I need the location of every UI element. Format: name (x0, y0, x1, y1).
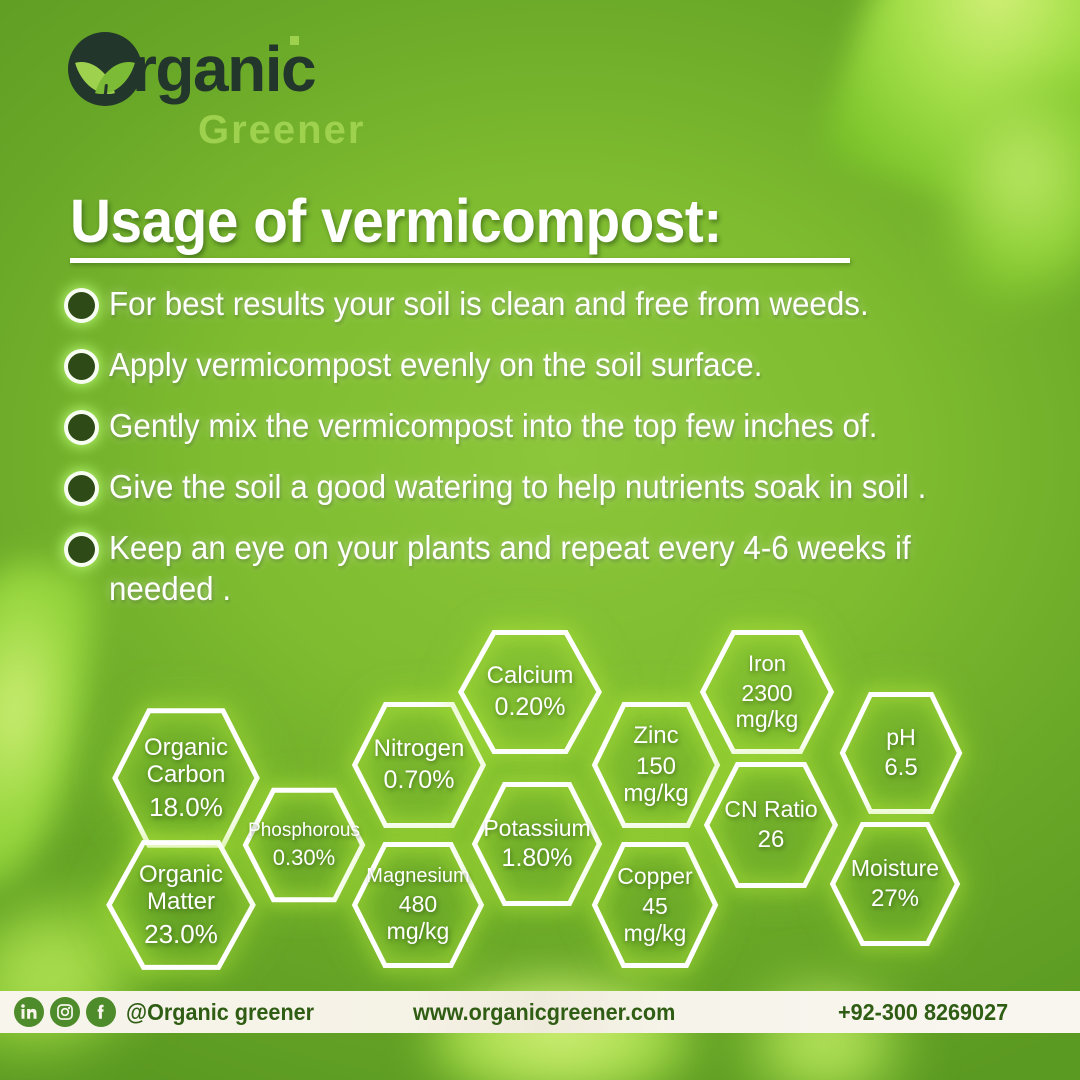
nutrient-hexagon[interactable]: Phosphorous0.30% (243, 788, 365, 902)
nutrient-hexagon[interactable]: Potassium1.80% (472, 782, 602, 906)
hexagon-label: Moisture27% (851, 855, 939, 913)
hexagon-label: CN Ratio26 (724, 796, 817, 854)
list-item-label: For best results your soil is clean and … (109, 284, 869, 325)
list-item-label: Keep an eye on your plants and repeat ev… (109, 528, 954, 610)
nutrient-value: 0.20% (487, 693, 574, 722)
hexagon-label: Potassium1.80% (483, 815, 590, 874)
nutrient-name: Iron (736, 651, 799, 677)
hexagon-label: OrganicCarbon18.0% (144, 734, 228, 823)
nutrient-hexagon[interactable]: Iron2300mg/kg (700, 630, 834, 754)
page-title: Usage of vermicompost: (70, 186, 722, 256)
nutrient-value: 6.5 (884, 754, 917, 782)
linkedin-icon[interactable] (14, 997, 44, 1027)
nutrient-value: 45mg/kg (617, 893, 692, 946)
nutrient-value: 27% (851, 885, 939, 913)
instagram-icon[interactable] (50, 997, 80, 1027)
list-item: For best results your soil is clean and … (68, 284, 998, 325)
hexagon-label: Nitrogen0.70% (374, 735, 465, 795)
list-item: Apply vermicompost evenly on the soil su… (68, 345, 998, 386)
list-item: Gently mix the vermicompost into the top… (68, 406, 998, 447)
nutrient-name: OrganicMatter (139, 861, 223, 917)
nutrient-name: Moisture (851, 855, 939, 882)
nutrient-name: OrganicCarbon (144, 734, 228, 790)
list-item: Keep an eye on your plants and repeat ev… (68, 528, 998, 610)
nutrient-name: CN Ratio (724, 796, 817, 823)
nutrient-name: Calcium (487, 662, 574, 690)
leaf-decoration-right (931, 75, 1080, 306)
phone-number[interactable]: +92-300 8269027 (838, 999, 1008, 1026)
logo-secondary-text: Greener (198, 110, 488, 150)
hexagon-label: Iron2300mg/kg (736, 651, 799, 733)
bullet-dot-icon (68, 292, 95, 319)
nutrient-hexagon[interactable]: Calcium0.20% (458, 630, 602, 754)
nutrient-hexagon[interactable]: Magnesium480mg/kg (352, 842, 484, 968)
nutrient-hexagon[interactable]: Copper45mg/kg (592, 842, 718, 968)
hexagon-label: Calcium0.20% (487, 662, 574, 722)
nutrient-hexagon[interactable]: Moisture27% (830, 822, 960, 946)
nutrient-hexagon[interactable]: OrganicMatter23.0% (106, 840, 256, 970)
nutrient-name: Phosphorous (248, 820, 360, 842)
nutrient-hexagon[interactable]: CN Ratio26 (704, 762, 838, 888)
leaf-decoration-top-right (816, 0, 1080, 248)
nutrient-name: Nitrogen (374, 735, 465, 763)
brand-logo[interactable]: rganic Greener (68, 30, 488, 155)
social-links (14, 997, 116, 1027)
nutrient-hexagon[interactable]: pH6.5 (840, 692, 962, 814)
logo-leaf-right (95, 55, 135, 102)
nutrient-value: 26 (724, 826, 817, 854)
hexagon-label: Zinc150mg/kg (623, 722, 688, 808)
hexagon-label: OrganicMatter23.0% (139, 861, 223, 950)
facebook-icon[interactable] (86, 997, 116, 1027)
website-url[interactable]: www.organicgreener.com (413, 999, 675, 1026)
nutrient-name: pH (884, 724, 917, 751)
usage-steps-list: For best results your soil is clean and … (68, 284, 998, 629)
list-item-label: Gently mix the vermicompost into the top… (109, 406, 877, 447)
nutrient-hexagon[interactable]: OrganicCarbon18.0% (112, 708, 260, 848)
nutrient-name: Potassium (483, 815, 590, 842)
bullet-dot-icon (68, 536, 95, 563)
nutrient-value: 480mg/kg (366, 891, 469, 944)
nutrient-name: Zinc (623, 722, 688, 750)
nutrient-value: 2300mg/kg (736, 680, 799, 733)
nutrient-value: 0.30% (248, 845, 360, 871)
logo-primary-row: rganic (68, 30, 488, 108)
nutrient-value: 23.0% (139, 919, 223, 949)
nutrient-name: Copper (617, 863, 692, 890)
list-item-label: Give the soil a good watering to help nu… (109, 467, 926, 508)
social-handle[interactable]: @Organic greener (126, 999, 314, 1026)
nutrient-value: 1.80% (483, 844, 590, 873)
hexagon-label: Phosphorous0.30% (248, 820, 360, 871)
title-underline (70, 258, 850, 263)
hexagon-label: Magnesium480mg/kg (366, 865, 469, 945)
bullet-dot-icon (68, 414, 95, 441)
hexagon-label: Copper45mg/kg (617, 863, 692, 946)
nutrient-value: 0.70% (374, 766, 465, 795)
hexagon-label: pH6.5 (884, 724, 917, 782)
logo-primary-text: rganic (132, 37, 315, 101)
list-item-label: Apply vermicompost evenly on the soil su… (109, 345, 762, 386)
poster-canvas: rganic Greener Usage of vermicompost: Fo… (0, 0, 1080, 1080)
leaf-circle-icon (68, 32, 142, 106)
nutrient-value: 18.0% (144, 792, 228, 822)
contact-footer: @Organic greener www.organicgreener.com … (0, 991, 1080, 1033)
logo-accent-dot (290, 36, 299, 45)
list-item: Give the soil a good watering to help nu… (68, 467, 998, 508)
nutrient-value: 150mg/kg (623, 753, 688, 809)
nutrient-name: Magnesium (366, 865, 469, 888)
bullet-dot-icon (68, 353, 95, 380)
bullet-dot-icon (68, 475, 95, 502)
